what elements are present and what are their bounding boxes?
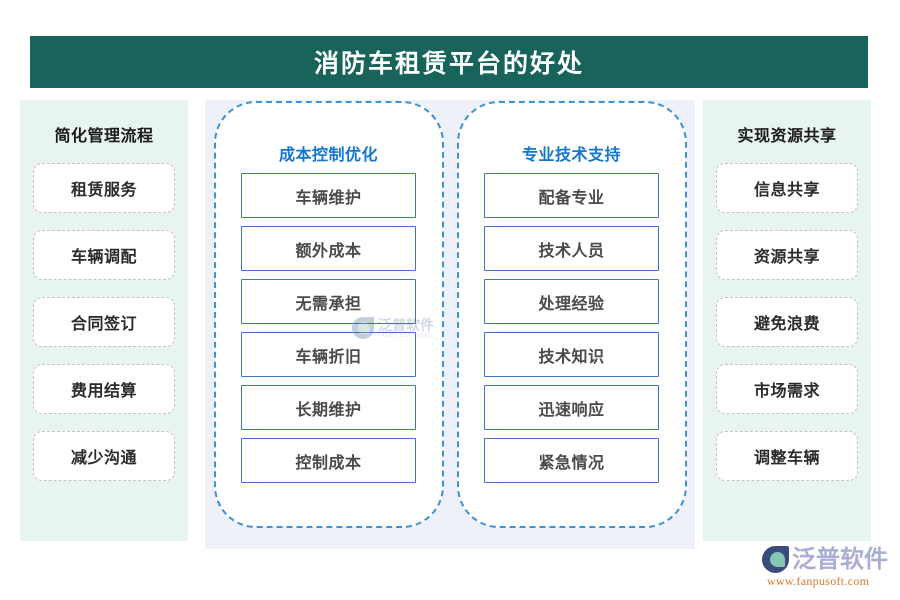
list-item[interactable]: 迅速响应 [484,385,659,430]
center-panel-tech-header: 专业技术支持 [522,141,621,165]
list-item[interactable]: 紧急情况 [484,438,659,483]
list-item[interactable]: 车辆调配 [33,230,175,280]
list-item[interactable]: 长期维护 [241,385,416,430]
fanpu-logo: 泛普软件 www.fanpusoft.com [762,546,894,590]
list-item[interactable]: 车辆维护 [241,173,416,218]
center-panel-cost: 成本控制优化 车辆维护 额外成本 无需承担 车辆折旧 长期维护 控制成本 [214,101,444,528]
list-item[interactable]: 合同签订 [33,297,175,347]
list-item[interactable]: 控制成本 [241,438,416,483]
center-section: 成本控制优化 车辆维护 额外成本 无需承担 车辆折旧 长期维护 控制成本 专业技… [205,100,695,549]
list-item[interactable]: 减少沟通 [33,431,175,481]
column-right-header: 实现资源共享 [737,122,836,146]
list-item[interactable]: 技术人员 [484,226,659,271]
logo-url: www.fanpusoft.com [767,574,894,589]
list-item[interactable]: 市场需求 [716,364,858,414]
center-panel-tech: 专业技术支持 配备专业 技术人员 处理经验 技术知识 迅速响应 紧急情况 [457,101,687,528]
logo-brand-cn: 泛普软件 [792,548,888,572]
list-item[interactable]: 租赁服务 [33,163,175,213]
column-right: 实现资源共享 信息共享 资源共享 避免浪费 市场需求 调整车辆 [703,100,871,541]
logo-row: 泛普软件 [762,546,894,573]
list-item[interactable]: 无需承担 [241,279,416,324]
list-item[interactable]: 配备专业 [484,173,659,218]
column-left-header: 简化管理流程 [54,122,153,146]
list-item[interactable]: 信息共享 [716,163,858,213]
list-item[interactable]: 资源共享 [716,230,858,280]
center-panel-cost-header: 成本控制优化 [279,141,378,165]
column-left: 简化管理流程 租赁服务 车辆调配 合同签订 费用结算 减少沟通 [20,100,188,541]
page-title-bar: 消防车租赁平台的好处 [30,36,868,88]
page-title: 消防车租赁平台的好处 [314,44,584,80]
list-item[interactable]: 额外成本 [241,226,416,271]
list-item[interactable]: 车辆折旧 [241,332,416,377]
list-item[interactable]: 处理经验 [484,279,659,324]
list-item[interactable]: 避免浪费 [716,297,858,347]
infographic-canvas: 消防车租赁平台的好处 简化管理流程 租赁服务 车辆调配 合同签订 费用结算 减少… [0,0,900,600]
list-item[interactable]: 费用结算 [33,364,175,414]
list-item[interactable]: 调整车辆 [716,431,858,481]
fanpu-logo-icon [762,546,789,573]
list-item[interactable]: 技术知识 [484,332,659,377]
